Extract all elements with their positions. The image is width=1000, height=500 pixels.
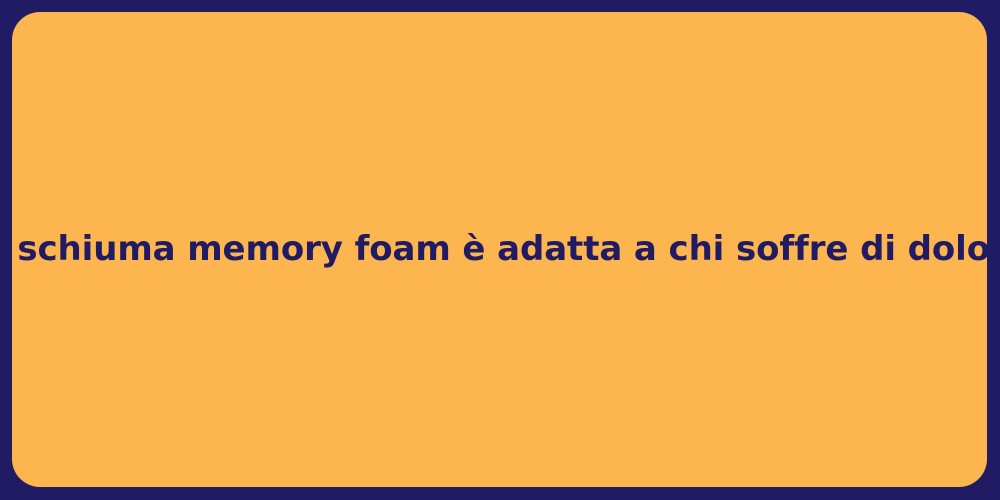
faq-card-frame: La schiuma memory foam è adatta a chi so… (0, 0, 1000, 500)
faq-question-text: La schiuma memory foam è adatta a chi so… (0, 228, 1000, 271)
faq-card-panel: La schiuma memory foam è adatta a chi so… (12, 12, 987, 487)
